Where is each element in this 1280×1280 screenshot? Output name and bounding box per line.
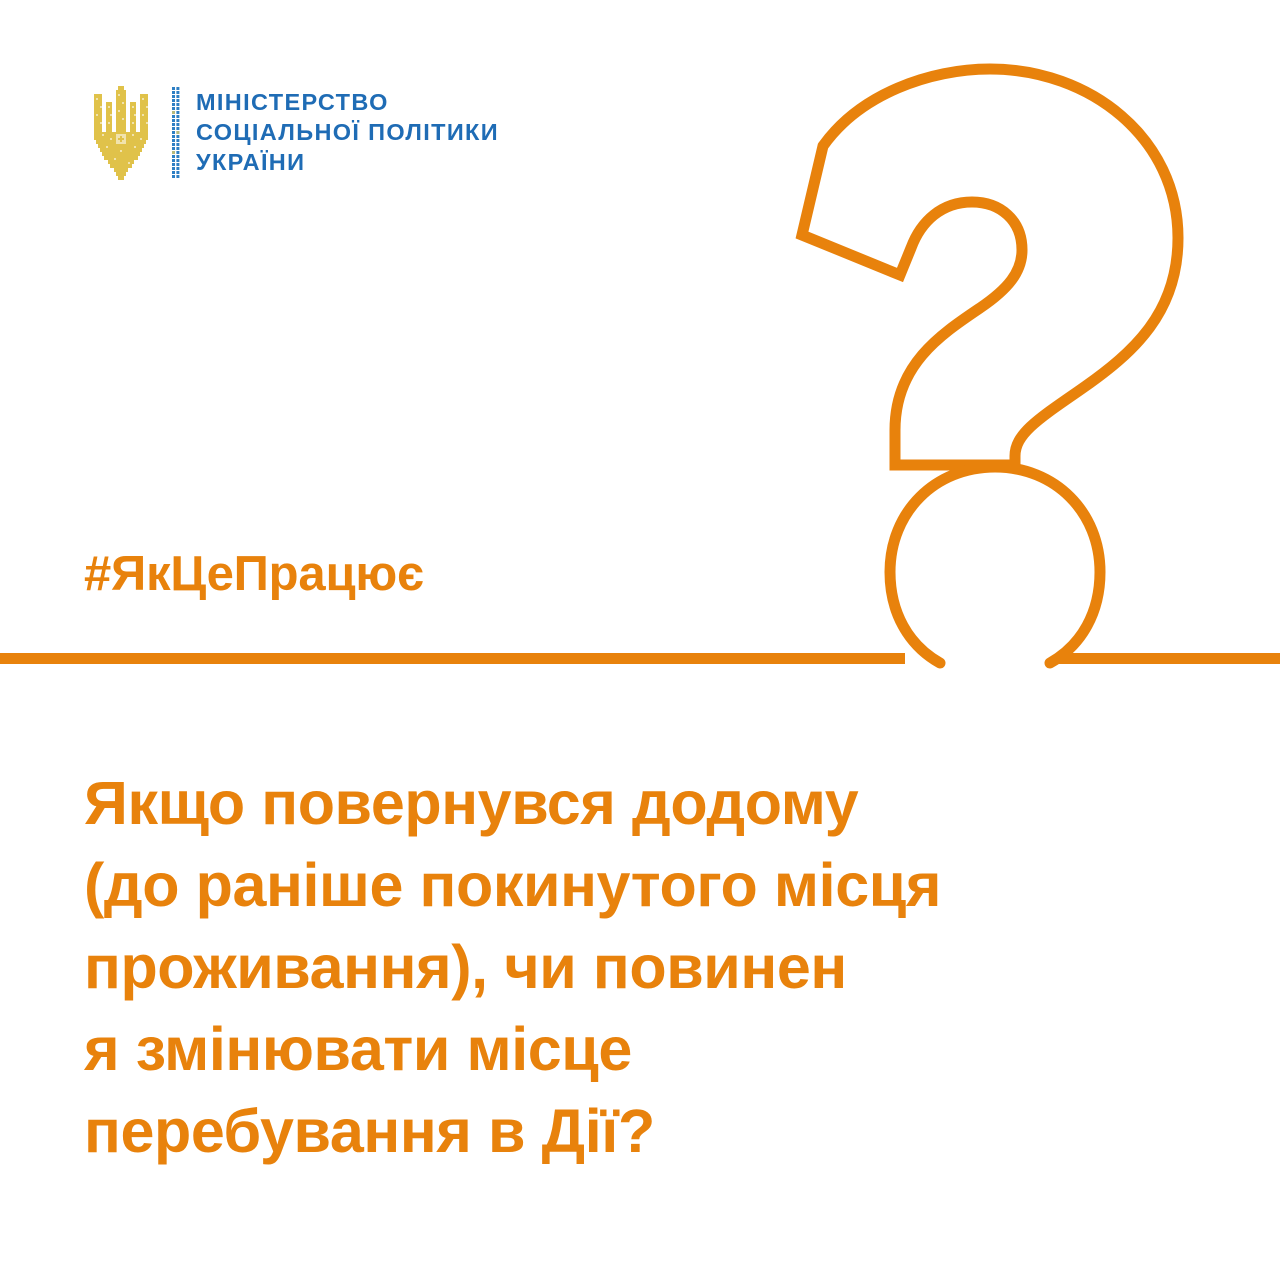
ministry-name-line-1: МІНІСТЕРСТВО <box>196 88 499 117</box>
hashtag-label[interactable]: #ЯкЦеПрацює <box>84 548 424 602</box>
headline-line-1: Якщо повернувся додому <box>84 762 1214 844</box>
question-mark-graphic <box>790 60 1210 680</box>
headline-line-5: перебування в Дії? <box>84 1090 1214 1172</box>
horizontal-rule-right <box>1058 653 1280 664</box>
horizontal-rule-left <box>0 653 905 664</box>
logo-dotted-divider <box>172 87 180 179</box>
ministry-name: МІНІСТЕРСТВО СОЦІАЛЬНОЇ ПОЛІТИКИ УКРАЇНИ <box>196 88 499 177</box>
headline-line-4: я змінювати місце <box>84 1008 1214 1090</box>
ukraine-trident-emblem <box>84 84 158 182</box>
page-title: Якщо повернувся додому (до раніше покину… <box>84 762 1214 1172</box>
headline-line-3: проживання), чи повинен <box>84 926 1214 1008</box>
infographic-canvas: МІНІСТЕРСТВО СОЦІАЛЬНОЇ ПОЛІТИКИ УКРАЇНИ… <box>0 0 1280 1280</box>
ministry-name-line-3: УКРАЇНИ <box>196 148 499 177</box>
ministry-logo[interactable]: МІНІСТЕРСТВО СОЦІАЛЬНОЇ ПОЛІТИКИ УКРАЇНИ <box>84 84 499 182</box>
question-mark-outline-icon <box>790 60 1210 680</box>
headline-line-2: (до раніше покинутого місця <box>84 844 1214 926</box>
ministry-name-line-2: СОЦІАЛЬНОЇ ПОЛІТИКИ <box>196 118 499 147</box>
